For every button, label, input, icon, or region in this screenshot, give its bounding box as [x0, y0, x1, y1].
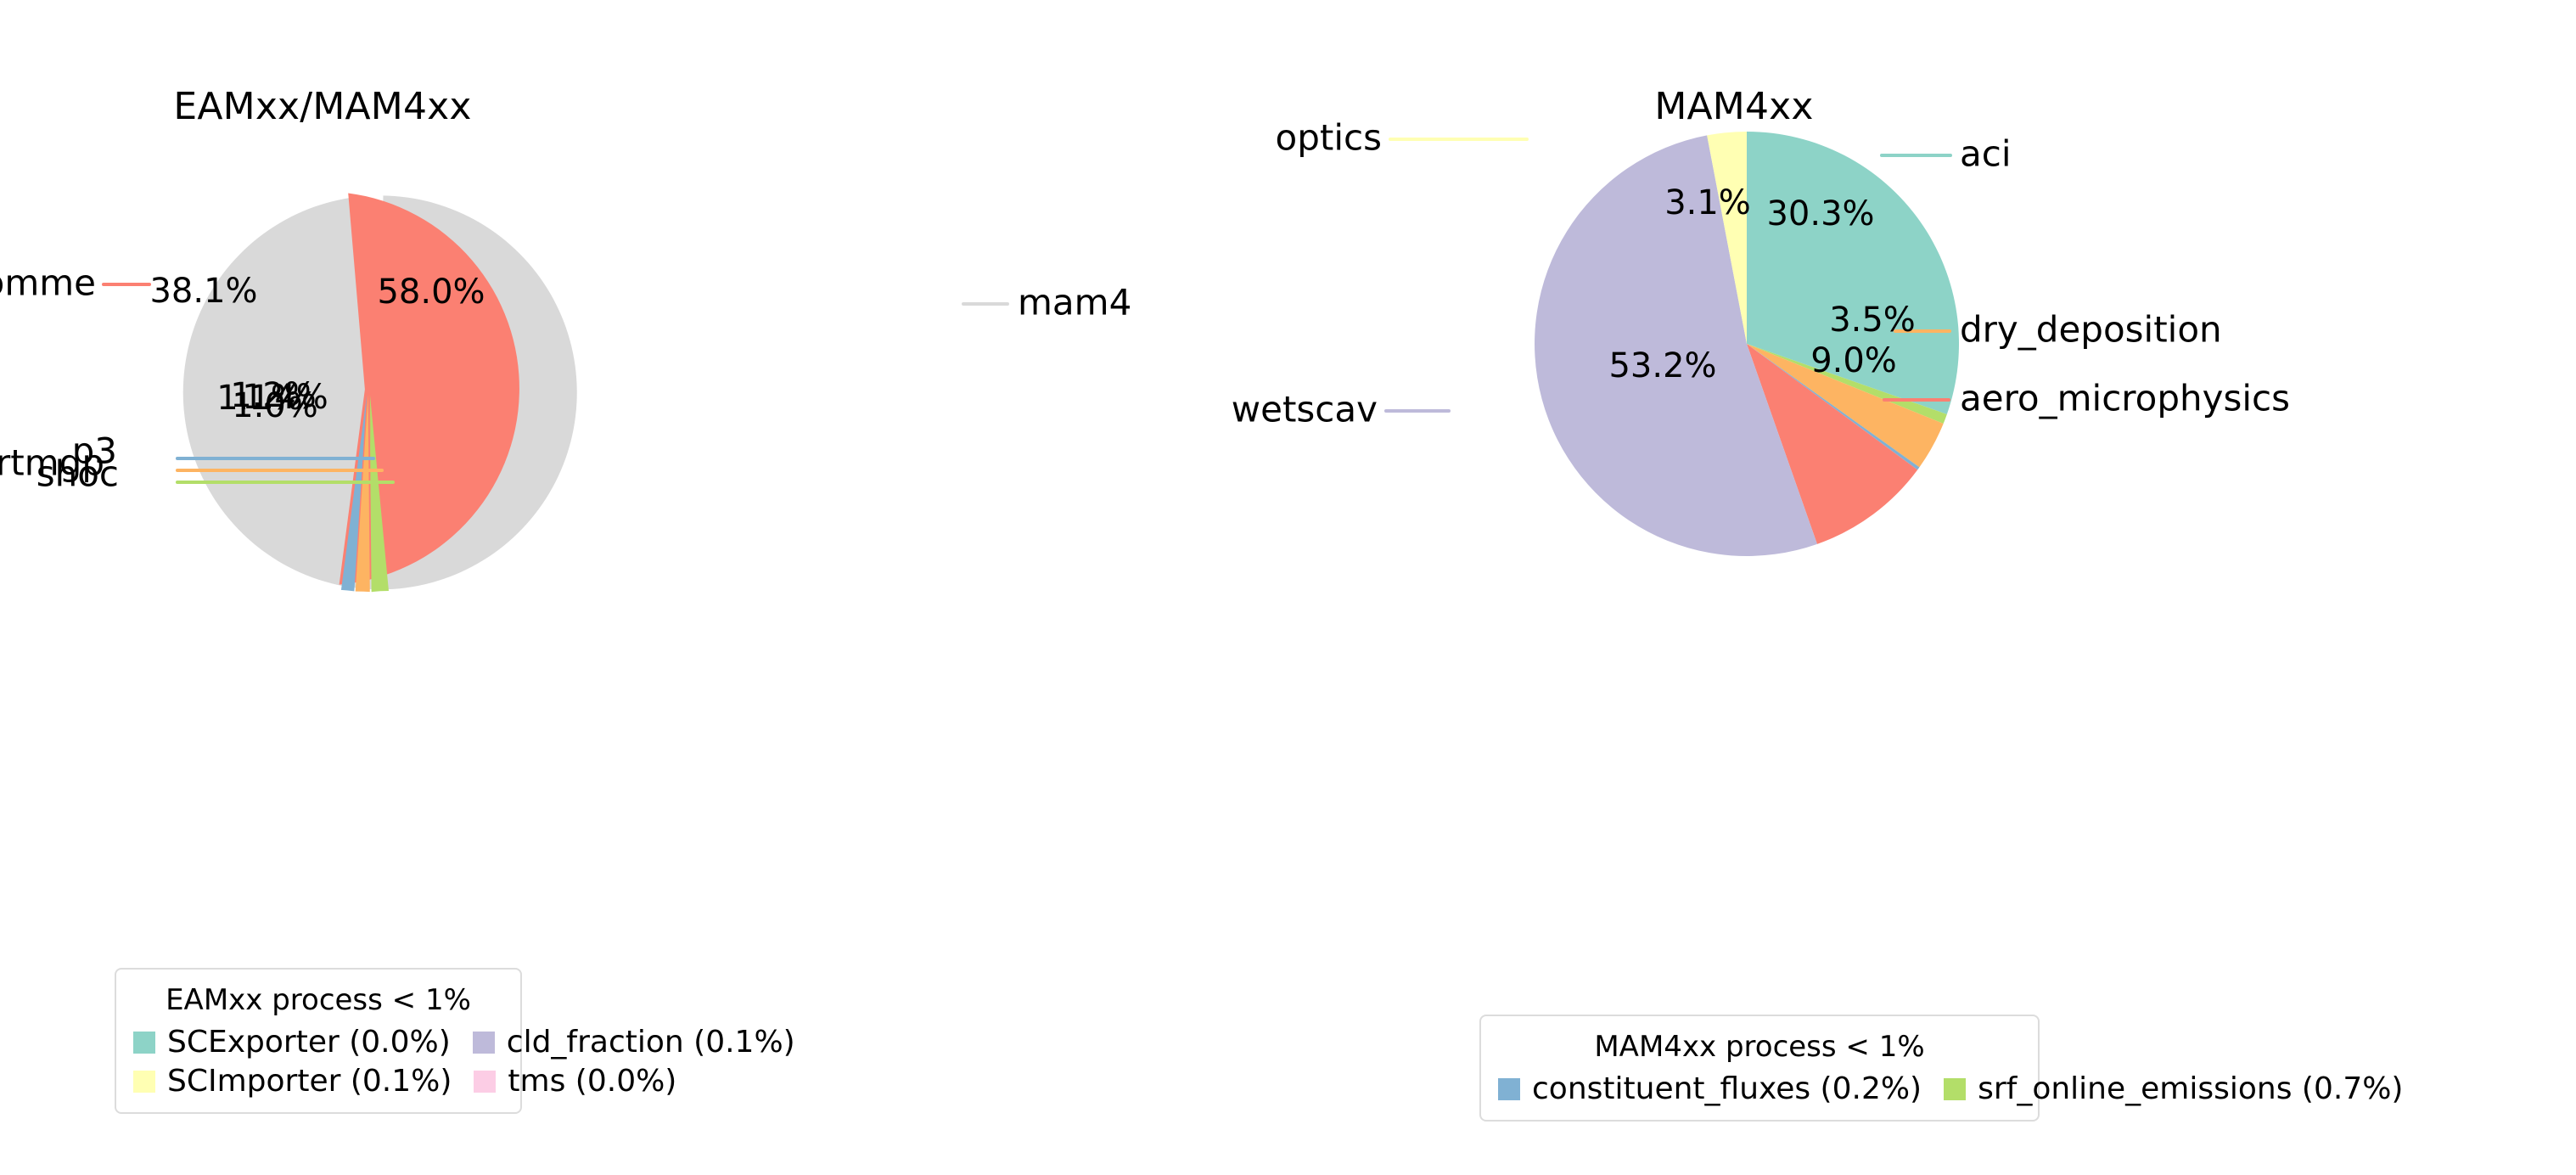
legend-rows-mam4xx: constituent_fluxes (0.2%) srf_online_emi… — [1498, 1074, 2021, 1105]
legend-swatch-icon — [1944, 1078, 1966, 1100]
legend-item-scimporter[interactable]: SCImporter (0.1%) — [133, 1066, 452, 1097]
legend-swatch-icon — [133, 1071, 155, 1093]
callout-label-homme: homme — [0, 262, 96, 304]
legend-row: SCExporter (0.0%) cld_fraction (0.1%) — [133, 1027, 503, 1058]
panel-eamxx-mam4xx: EAMxx/MAM4xx homme mam4 — [0, 0, 1288, 1175]
callout-label-aci: aci — [1960, 133, 2012, 175]
callout-label-mam4: mam4 — [1018, 282, 1131, 323]
legend-row: SCImporter (0.1%) tms (0.0%) — [133, 1066, 503, 1097]
pct-label-mam4: 58.0% — [377, 273, 485, 312]
legend-label: SCExporter (0.0%) — [167, 1027, 451, 1058]
legend-eamxx: EAMxx process < 1% SCExporter (0.0%) cld… — [115, 968, 522, 1114]
callout-label-wetscav: wetscav — [1232, 389, 1378, 430]
legend-title-mam4xx: MAM4xx process < 1% — [1498, 1030, 2021, 1064]
leader-line-homme — [102, 283, 151, 286]
legend-mam4xx: MAM4xx process < 1% constituent_fluxes (… — [1479, 1015, 2040, 1122]
pie-eamxx — [123, 136, 615, 645]
leader-line-aci — [1880, 154, 1952, 157]
legend-label: SCImporter (0.1%) — [167, 1066, 452, 1097]
pie-eamxx-svg — [123, 136, 615, 645]
legend-rows-eamxx: SCExporter (0.0%) cld_fraction (0.1%) SC… — [133, 1027, 503, 1097]
legend-label: cld_fraction (0.1%) — [507, 1027, 795, 1058]
legend-item-constituent-fluxes[interactable]: constituent_fluxes (0.2%) — [1498, 1074, 1922, 1105]
legend-swatch-icon — [1498, 1078, 1520, 1100]
pct-label-homme: 38.1% — [149, 272, 257, 311]
panel-mam4xx: MAM4xx o — [1288, 0, 2576, 1175]
leader-line-shoc — [176, 469, 384, 472]
legend-item-scexporter[interactable]: SCExporter (0.0%) — [133, 1027, 451, 1058]
legend-title-eamxx: EAMxx process < 1% — [133, 983, 503, 1017]
pct-label-aero-microphysics: 9.0% — [1810, 341, 1897, 380]
pct-label-dry-deposition: 3.5% — [1829, 301, 1916, 340]
legend-swatch-icon — [133, 1032, 155, 1054]
legend-item-tms[interactable]: tms (0.0%) — [474, 1066, 676, 1097]
callout-label-dry-deposition: dry_deposition — [1960, 309, 2222, 351]
pct-label-aci: 30.3% — [1766, 194, 1874, 233]
legend-label: srf_online_emissions (0.7%) — [1978, 1074, 2403, 1105]
leader-line-aero-microphysics — [1883, 398, 1950, 402]
leader-line-wetscav — [1384, 409, 1451, 413]
leader-line-p3 — [176, 481, 395, 484]
legend-label: constituent_fluxes (0.2%) — [1532, 1074, 1922, 1105]
legend-swatch-icon — [473, 1032, 495, 1054]
leader-line-optics — [1389, 138, 1529, 141]
page-title-left: EAMxx/MAM4xx — [0, 85, 645, 128]
legend-row: constituent_fluxes (0.2%) srf_online_emi… — [1498, 1074, 2021, 1105]
legend-label: tms (0.0%) — [508, 1066, 676, 1097]
pct-label-small-extra: 1.0% — [232, 386, 318, 425]
callout-label-optics: optics — [1276, 117, 1382, 159]
pie-chart-figure: EAMxx/MAM4xx homme mam4 — [0, 0, 2576, 1175]
legend-item-srf-online-emissions[interactable]: srf_online_emissions (0.7%) — [1944, 1074, 2403, 1105]
legend-item-cld-fraction[interactable]: cld_fraction (0.1%) — [473, 1027, 795, 1058]
callout-label-aero-microphysics: aero_microphysics — [1960, 378, 2290, 419]
leader-line-mam4 — [962, 302, 1009, 306]
pct-label-wetscav: 53.2% — [1608, 346, 1716, 385]
legend-swatch-icon — [474, 1071, 496, 1093]
leader-line-rrtmgp — [176, 457, 375, 460]
pct-label-optics: 3.1% — [1664, 183, 1751, 222]
callout-label-p3: p3 — [72, 430, 117, 472]
